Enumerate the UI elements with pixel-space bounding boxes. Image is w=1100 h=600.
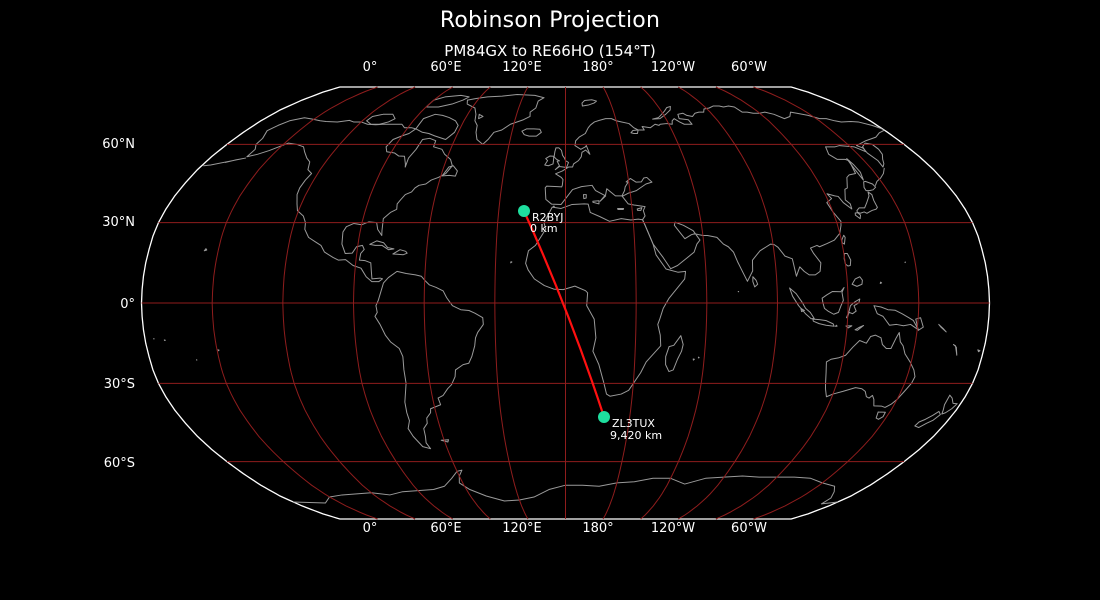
coastline-path <box>813 319 834 326</box>
longitude-label-top-2: 120°E <box>502 60 542 75</box>
longitude-labels-bottom: 0°60°E120°E180°120°W60°W <box>363 521 767 536</box>
coastline-path <box>593 201 599 204</box>
coastline-path <box>852 277 862 287</box>
longitude-label-bottom-3: 180° <box>582 521 613 536</box>
coastline-path <box>939 324 946 332</box>
longitude-label-top-0: 0° <box>363 60 378 75</box>
map-figure: Robinson Projection PM84GX to RE66HO (15… <box>0 0 1100 600</box>
longitude-label-bottom-2: 120°E <box>502 521 542 536</box>
coastline-path <box>479 114 483 118</box>
coastline-path <box>698 357 699 358</box>
coastline-path <box>582 100 596 106</box>
coastline-path <box>367 114 395 124</box>
endpoint-marker-dot-1[interactable] <box>598 411 610 423</box>
coastline-path <box>864 181 876 190</box>
coastline-path <box>553 206 554 207</box>
longitude-label-top-1: 60°E <box>430 60 461 75</box>
coastline-path <box>583 195 586 199</box>
coastline-path <box>618 208 624 209</box>
coastline-path <box>666 336 684 372</box>
coastline-path <box>857 192 877 213</box>
coastline-path <box>855 326 864 331</box>
coastline-path <box>204 249 206 251</box>
coastline-path <box>880 282 881 283</box>
endpoint-markers: R2BYJ0 kmZL3TUX9,420 km <box>518 205 662 442</box>
endpoint-marker-dot-0[interactable] <box>518 205 530 217</box>
coastline-path <box>218 350 219 351</box>
coastline-path <box>204 158 246 166</box>
coastline-path <box>467 95 544 145</box>
coastline-path <box>874 306 918 330</box>
longitude-label-bottom-4: 120°W <box>651 521 695 536</box>
coastline-path <box>847 159 864 180</box>
coastline-path <box>915 411 941 427</box>
longitude-label-bottom-1: 60°E <box>430 521 461 536</box>
robinson-map: 0°60°E120°E180°120°W60°W 0°60°E120°E180°… <box>0 0 1100 600</box>
latitude-label-0: 60°N <box>102 137 135 152</box>
great-circle-path <box>524 211 604 417</box>
coastline-path <box>693 359 694 360</box>
coastline-path <box>511 262 512 263</box>
coastline-path <box>554 148 568 170</box>
coastline-path <box>855 213 860 219</box>
coastline-path <box>247 118 452 282</box>
latitude-label-4: 60°S <box>104 456 135 471</box>
graticule <box>142 87 990 519</box>
coastline-path <box>637 208 642 211</box>
longitude-label-bottom-0: 0° <box>363 521 378 536</box>
coastline-path <box>835 325 837 326</box>
coastline-path <box>753 277 758 287</box>
coastline-path <box>393 250 407 255</box>
coastline-path <box>825 332 914 407</box>
latitude-label-1: 30°N <box>102 215 135 230</box>
longitude-label-bottom-5: 60°W <box>731 521 767 536</box>
longitude-label-top-3: 180° <box>582 60 613 75</box>
endpoint-distance-label-1: 9,420 km <box>610 429 662 442</box>
latitude-labels: 60°N30°N0°30°S60°S <box>102 137 135 471</box>
longitude-label-top-4: 120°W <box>651 60 695 75</box>
coastline-path <box>545 156 554 166</box>
coastline-path <box>822 287 844 314</box>
latitude-label-2: 0° <box>120 297 135 312</box>
latitude-label-3: 30°S <box>104 377 135 392</box>
coastline-path <box>416 114 458 139</box>
longitude-labels-top: 0°60°E120°E180°120°W60°W <box>363 60 767 75</box>
endpoint-distance-label-0: 0 km <box>530 222 558 235</box>
coastline-path <box>876 412 885 419</box>
coastline-path <box>978 350 980 352</box>
coastline-path <box>375 271 483 448</box>
coastline-path <box>875 168 884 185</box>
longitude-label-top-5: 60°W <box>731 60 767 75</box>
coastline-path <box>653 106 671 119</box>
coastlines <box>154 95 980 504</box>
coastline-path <box>522 129 541 136</box>
coastline-path <box>370 241 394 250</box>
coastline-path <box>953 345 956 356</box>
great-circle-path-group <box>524 211 604 417</box>
coastline-path <box>801 308 804 311</box>
coastline-path <box>164 340 165 341</box>
